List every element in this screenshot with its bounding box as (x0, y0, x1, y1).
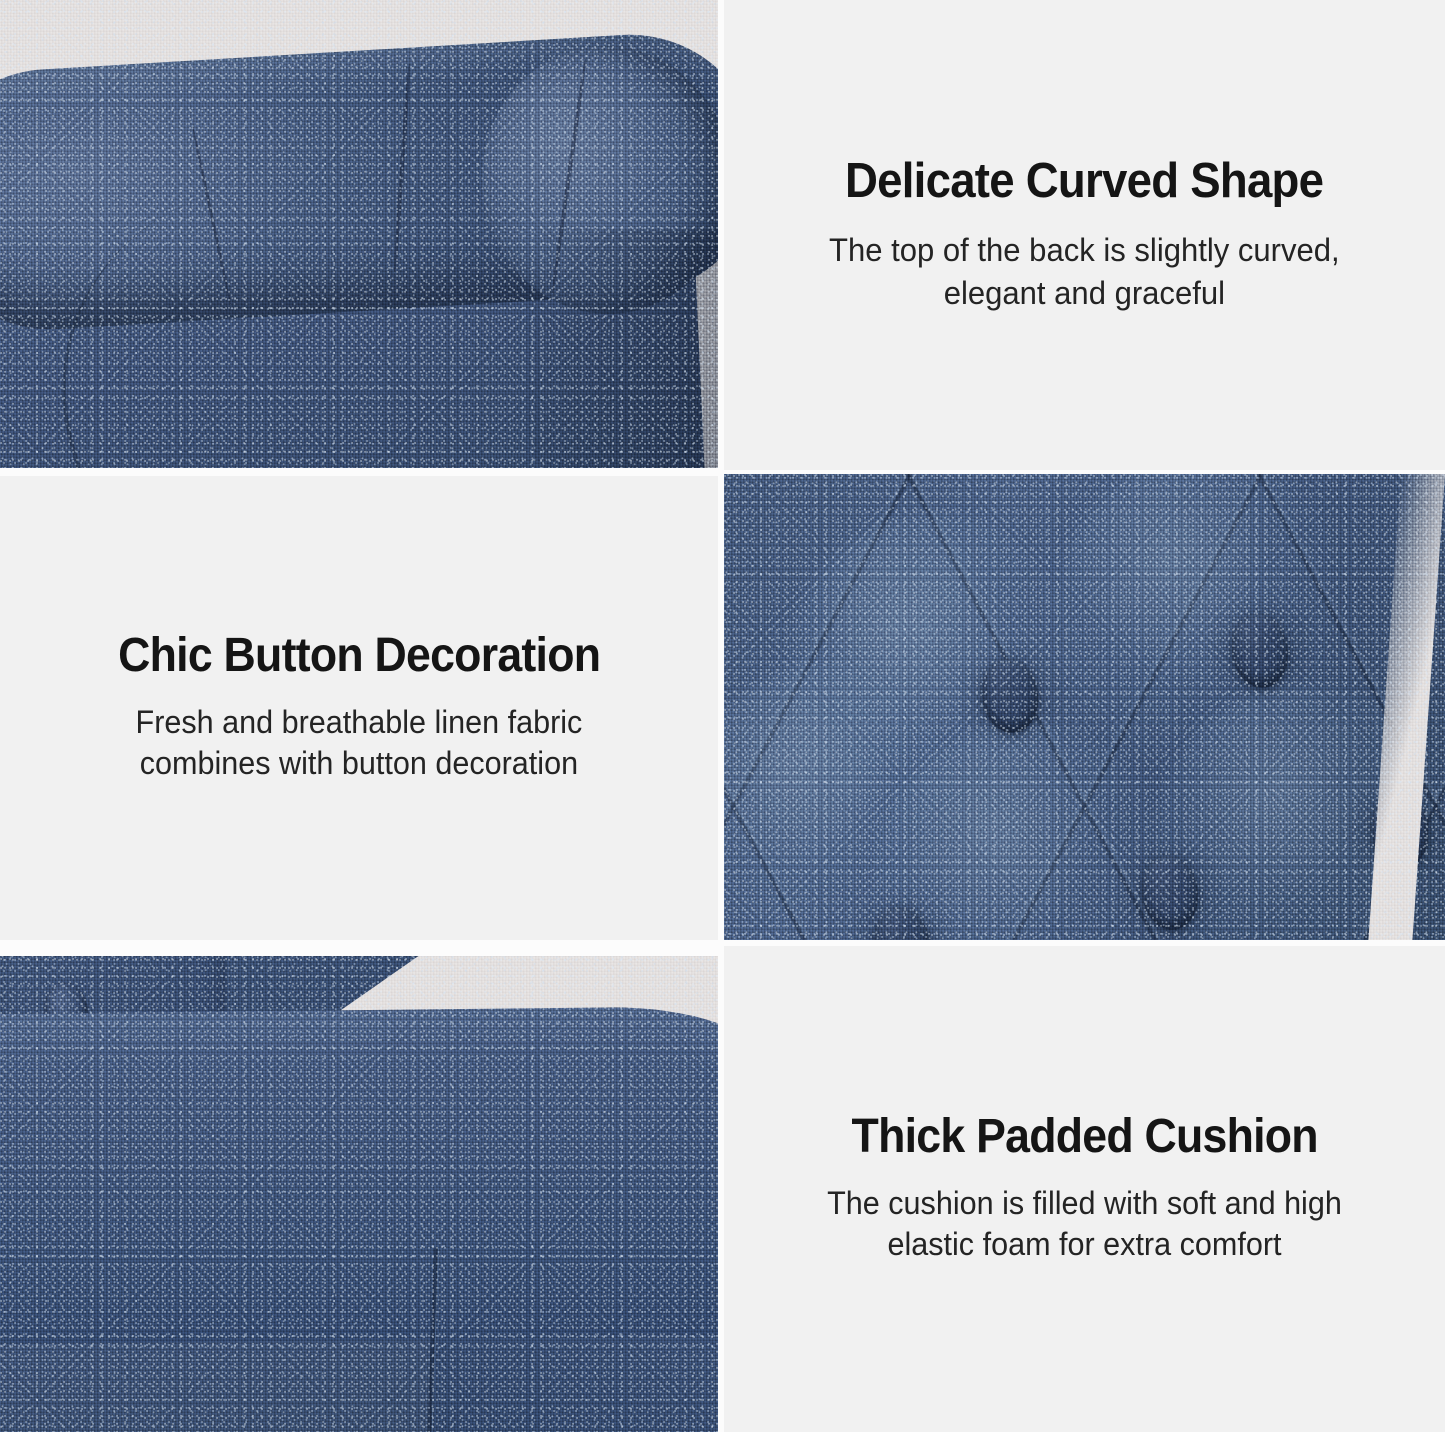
diamond-tufting-seams (724, 474, 1445, 940)
feature-body-line-2: elegant and graceful (944, 275, 1225, 311)
feature-body: Fresh and breathable linen fabric combin… (136, 702, 583, 785)
feature-text-chic-button-decoration: Chic Button Decoration Fresh and breatha… (0, 476, 718, 940)
feature-body: The cushion is filled with soft and high… (827, 1183, 1342, 1266)
photo-shadow (528, 230, 718, 468)
tufting-button (1137, 852, 1203, 933)
tufting-button (869, 904, 935, 940)
tufting-button (977, 655, 1043, 736)
feature-heading: Delicate Curved Shape (845, 156, 1323, 207)
cushion-top-surface (0, 1006, 718, 1344)
feature-heading: Chic Button Decoration (118, 631, 600, 681)
feature-body-line-1: The top of the back is slightly curved, (829, 232, 1340, 268)
tufted-fabric-photo (724, 474, 1445, 940)
feature-text-delicate-curved-shape: Delicate Curved Shape The top of the bac… (724, 0, 1445, 470)
feature-image-chic-button-decoration (724, 474, 1445, 940)
feature-body-line-1: Fresh and breathable linen fabric (136, 704, 583, 740)
tufting-button (1227, 610, 1293, 691)
feature-heading: Thick Padded Cushion (851, 1112, 1317, 1162)
rolled-back-shape (0, 0, 718, 468)
seat-cushion-photo (0, 948, 718, 1432)
feature-image-thick-padded-cushion (0, 948, 718, 1432)
feature-body-line-1: The cushion is filled with soft and high (827, 1185, 1342, 1221)
photo-top-edge (0, 948, 718, 956)
feature-image-delicate-curved-shape (0, 0, 718, 468)
feature-text-thick-padded-cushion: Thick Padded Cushion The cushion is fill… (724, 946, 1445, 1432)
feature-body: The top of the back is slightly curved, … (829, 229, 1340, 314)
feature-grid: Delicate Curved Shape The top of the bac… (0, 0, 1445, 1432)
feature-body-line-2: combines with button decoration (140, 745, 578, 781)
chair-curved-back-photo (0, 0, 718, 468)
feature-body-line-2: elastic foam for extra comfort (887, 1226, 1281, 1262)
